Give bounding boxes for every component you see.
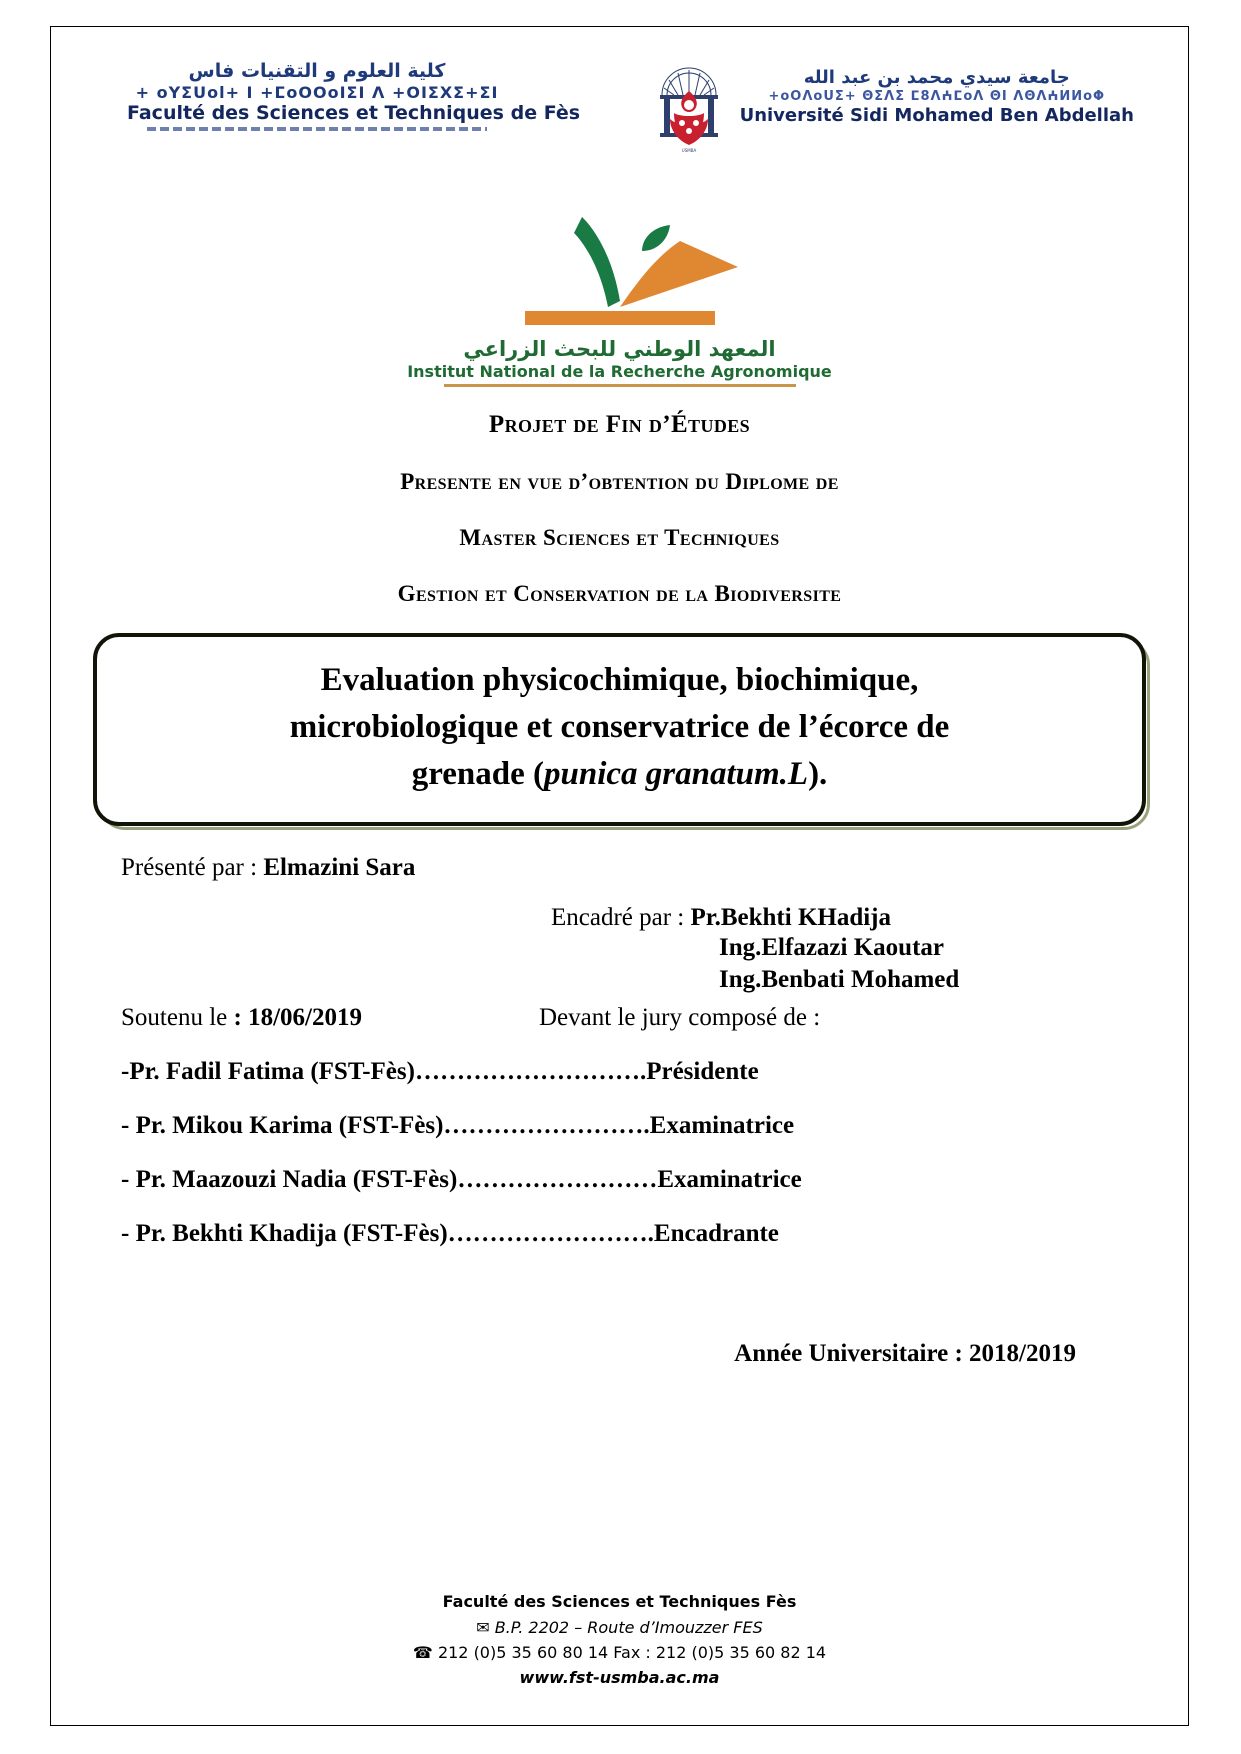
usmba-text-block: جامعة سيدي محمد بن عبد الله +oOΛoUΣ+ ΘΣΛ…: [740, 61, 1134, 128]
supervisor-name-3: Ing.Benbati Mohamed: [719, 964, 1118, 996]
supervisor-name-2: Ing.Elfazazi Kaoutar: [719, 932, 1118, 964]
header: كلية العلوم و التقنيات فاس + oYΣUol+ I +…: [85, 27, 1154, 173]
author-name: Elmazini Sara: [263, 854, 415, 881]
presented-by-row: Présenté par : Elmazini Sara: [121, 854, 1118, 882]
heading-projet-fin-etudes: Projet de Fin d’Études: [85, 411, 1154, 439]
page-content: كلية العلوم و التقنيات فاس + oYΣUol+ I +…: [51, 27, 1188, 1725]
heading-presente-diplome: Presente en vue d’obtention du Diplome d…: [85, 469, 1154, 495]
title-line-2: microbiologique et conservatrice de l’éc…: [133, 704, 1106, 751]
fst-french-name: Faculté des Sciences et Techniques de Fè…: [127, 102, 507, 125]
inra-arabic-name: المعهد الوطني للبحث الزراعي: [85, 336, 1154, 362]
jury-member-4: - Pr. Bekhti Khadija (FST-Fès)…………………….E…: [121, 1220, 1118, 1248]
inra-underline-rule: [444, 384, 796, 387]
title-line-3-prefix: grenade (: [412, 756, 544, 792]
svg-text:USMBA: USMBA: [681, 148, 696, 153]
telephone-icon: ☎: [413, 1643, 433, 1662]
inra-logo-block: المعهد الوطني للبحث الزراعي Institut Nat…: [85, 189, 1154, 387]
thesis-title-box: Evaluation physicochimique, biochimique,…: [93, 633, 1146, 826]
supervisor-name-1: Pr.Bekhti KHadija: [691, 904, 892, 931]
title-line-3-suffix: ).: [808, 756, 827, 792]
heading-gestion-conservation-biodiversite: Gestion et Conservation de la Biodiversi…: [85, 581, 1154, 607]
footer-phone: 212 (0)5 35 60 80 14 Fax : 212 (0)5 35 6…: [438, 1643, 826, 1662]
jury-member-1: -Pr. Fadil Fatima (FST-Fès)……………………….Pré…: [121, 1058, 1118, 1086]
title-line-3: grenade (punica granatum.L).: [133, 751, 1106, 798]
usmba-logo-block: USMBA جامعة سيدي محمد بن عبد الله +oOΛoU…: [652, 61, 1154, 153]
footer-address-row: ✉ B.P. 2202 – Route d’Imouzzer FES: [51, 1618, 1188, 1637]
supervised-by-label: Encadré par :: [551, 904, 691, 931]
fst-underline-rule: [147, 127, 487, 131]
footer-phone-row: ☎ 212 (0)5 35 60 80 14 Fax : 212 (0)5 35…: [51, 1643, 1188, 1662]
supervisors-block: Encadré par : Pr.Bekhti KHadija Ing.Elfa…: [551, 904, 1118, 996]
fst-logo-block: كلية العلوم و التقنيات فاس + oYΣUol+ I +…: [85, 61, 507, 131]
title-species-name: punica granatum.L: [544, 756, 808, 792]
university-seal-icon: USMBA: [652, 61, 726, 153]
people-block: Présenté par : Elmazini Sara Encadré par…: [85, 854, 1154, 1032]
usmba-french-name: Université Sidi Mohamed Ben Abdellah: [740, 105, 1134, 128]
title-box-border: Evaluation physicochimique, biochimique,…: [93, 633, 1146, 826]
defense-date-value: : 18/06/2019: [234, 1004, 362, 1031]
footer-faculty-name: Faculté des Sciences et Techniques Fès: [51, 1592, 1188, 1611]
envelope-icon: ✉: [476, 1618, 489, 1637]
title-line-1: Evaluation physicochimique, biochimique,: [133, 657, 1106, 704]
usmba-tifinagh-name: +oOΛoUΣ+ ΘΣΛΣ ⵎ8ΛⵄⵎoΛ ΘI ΛΘΛⵄИИoΦ: [740, 89, 1134, 106]
heading-master-sciences-techniques: Master Sciences et Techniques: [85, 525, 1154, 551]
supervisor-main-row: Encadré par : Pr.Bekhti KHadija: [551, 904, 1118, 932]
fst-tifinagh-name: + oYΣUol+ I +ⵎoOOoIΣI Λ +OIΣXΣ+ΣI: [127, 83, 507, 102]
inra-french-name: Institut National de la Recherche Agrono…: [85, 362, 1154, 381]
footer-address: B.P. 2202 – Route d’Imouzzer FES: [495, 1618, 763, 1637]
academic-year: Année Universitaire : 2018/2019: [85, 1340, 1154, 1368]
presented-by-label: Présenté par :: [121, 854, 263, 881]
inra-sprout-logo-icon: [85, 189, 1154, 334]
jury-member-3: - Pr. Maazouzi Nadia (FST-Fès)……………………Ex…: [121, 1166, 1118, 1194]
defense-row: Soutenu le : 18/06/2019 Devant le jury c…: [121, 1004, 1118, 1032]
fst-arabic-name: كلية العلوم و التقنيات فاس: [127, 61, 507, 83]
footer: Faculté des Sciences et Techniques Fès ✉…: [51, 1592, 1188, 1687]
jury-list: -Pr. Fadil Fatima (FST-Fès)……………………….Pré…: [85, 1058, 1154, 1248]
footer-website: www.fst-usmba.ac.ma: [51, 1668, 1188, 1687]
defense-date-label: Soutenu le: [121, 1004, 234, 1031]
jury-intro-text: Devant le jury composé de :: [539, 1004, 820, 1032]
jury-member-2: - Pr. Mikou Karima (FST-Fès)…………………….Exa…: [121, 1112, 1118, 1140]
page-frame: كلية العلوم و التقنيات فاس + oYΣUol+ I +…: [50, 26, 1189, 1726]
usmba-arabic-name: جامعة سيدي محمد بن عبد الله: [740, 67, 1134, 89]
defense-date-block: Soutenu le : 18/06/2019: [121, 1004, 539, 1032]
